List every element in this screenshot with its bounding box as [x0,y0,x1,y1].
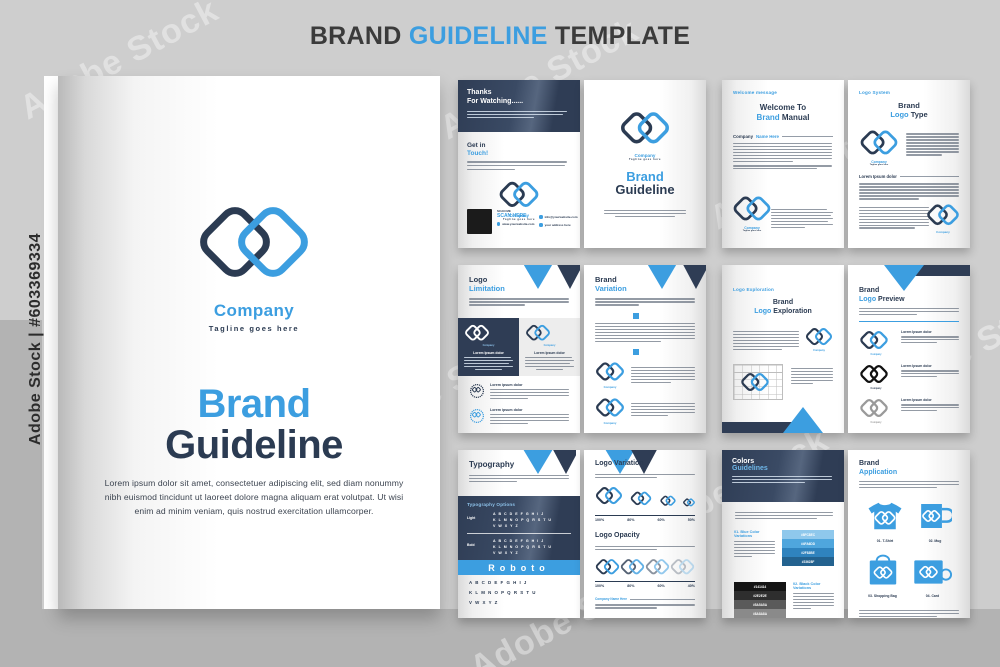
welcome-sub-blue: Name Here [756,134,779,139]
exploration-grid-lines [791,368,833,386]
exploration-title-blue: Logo [754,308,771,315]
contact-bullet-icon [539,223,542,226]
preview-body-lines [859,308,959,315]
color-swatch: #23628F [782,557,834,566]
logotype-title-blue: Logo [890,110,908,119]
typography-title: Typography [469,460,569,470]
preview-item-lines [901,336,959,343]
exploration-logo-group: Company [805,327,833,352]
application-body-lines [859,481,959,488]
company-logo-icon [645,558,670,578]
logotype-logo-group: Company Tagline goes here [859,129,899,166]
cover-logo-group: Company Tagline goes here [195,202,313,333]
welcome-kicker: Welcome message [733,90,833,95]
exploration-company: Company [805,349,833,352]
variation-square-marker-icon [633,313,639,319]
logotype-sub: Lorem Ipsum dolor [859,174,897,179]
alphabet-row: K L M N O P Q R S T U [469,590,569,595]
variation-title-line1: Brand [595,275,695,284]
alphabet-row: K L M N O P Q R S T U [493,545,571,549]
card-mockup: 04. Card [913,557,953,598]
page-welcome[interactable]: Welcome message Welcome To Brand Manual … [722,80,844,248]
preview-divider [859,321,959,322]
tshirt-icon [866,500,904,532]
cover-thumb-tagline: Tagline goes here [619,158,671,161]
variation-company-2: Company [595,421,625,425]
logotype-title-line1: Brand [859,101,959,110]
logo-variation-lines [595,474,695,478]
preview-item-lines [901,404,959,411]
preview-item-label: Lorem Ipsum dolor [901,330,959,334]
exploration-kicker: Logo Exploration [733,287,833,292]
limitation-body-lines [469,298,569,305]
color-swatch: #8FC8EC [782,530,834,539]
logo-no-icon [469,383,485,399]
qr-cta: SCAN HERE [497,213,534,219]
application-footer-lines [859,610,959,617]
company-logo-icon [859,398,893,421]
colors-header-band: Colors Guidelines [722,450,844,502]
welcome-title-line1: Welcome To [733,103,833,113]
spread-welcome-logotype[interactable]: Welcome message Welcome To Brand Manual … [722,80,970,248]
welcome-tagline: Tagline goes here [732,230,772,232]
company-logo-icon [859,364,893,387]
limitation-box-dark: Company Lorem Ipsum dolor [458,318,519,376]
colors-intro-lines [735,512,833,521]
exploration-title-line1: Brand [733,299,833,308]
logo-variation-title: Logo Variation [595,460,695,469]
color-swatch: #141414 [734,582,786,591]
limitation-item-lines [490,389,569,399]
application-title-line1: Brand [859,460,959,469]
spread-colors-application[interactable]: Colors Guidelines 01. Blue Color Variati… [722,450,970,618]
welcome-body-lines [733,143,833,169]
bottom-accent-group [722,407,844,433]
preview-item-label: Lorem Ipsum dolor [901,364,959,368]
qr-code-icon[interactable] [467,209,492,234]
typography-specimen-panel: Typography Options Light A B C D E F G H… [458,496,580,560]
preview-item: Company Lorem Ipsum dolor [859,330,959,356]
colors-header-lines [732,476,834,483]
color-swatch: #8A8A8A [734,609,786,618]
welcome-sub-dark: Company [733,134,753,139]
company-logo-icon [595,361,625,385]
variation-title-line2: Variation [595,284,695,293]
contact-value: www.yourwebsite.com [502,222,534,226]
thanks-contact-lines [467,161,571,170]
limitation-box-company: Company [464,344,513,347]
cover-spine [44,76,58,609]
logotype-body-lines [906,133,959,157]
preview-title-line1: Brand [859,287,959,296]
company-logo-icon [740,372,770,395]
shopping-bag-icon [866,553,900,587]
tshirt-mockup: 01. T-Shirt [866,500,904,543]
typography-panel-divider [467,533,571,534]
alphabet-row: A B C D E F G H I J [493,512,571,516]
page-cover-thumb[interactable]: Company Tagline goes here Brand Guidelin… [584,80,706,248]
mug-mockup: 02. Mug [918,500,952,543]
logo-variation-footer-kicker: Company Name Here [595,597,627,601]
preview-item: Company Lorem Ipsum dolor [859,398,959,424]
variation-logo-group: Company [595,361,625,389]
limitation-item-label: Lorem ipsum dolor [490,383,569,387]
company-logo-icon [595,486,623,508]
application-title-line2: Application [859,469,959,476]
variation-lines-2 [595,323,695,342]
company-logo-icon [620,558,645,578]
colors-section-1-title: 01. Blue Color Variations [734,530,775,538]
company-logo-icon [195,202,313,294]
colors-title-line2: Guidelines [732,465,834,472]
company-logo-icon [926,203,960,230]
logo-opacity-row [595,558,695,578]
colors-title-line1: Colors [732,458,834,465]
preview-company: Company [859,421,893,424]
preview-item-label: Lorem Ipsum dolor [901,398,959,402]
logo-variation-footer-lines [595,604,695,608]
logo-variation-row [595,486,695,513]
alphabet-row: A B C D E F G H I J [493,539,571,543]
company-logo-icon [630,491,652,508]
page-title-accent: GUIDELINE [409,22,548,50]
logotype-title-dark: Type [909,110,928,119]
exploration-body-lines [733,331,799,352]
limitation-box-light: Company Lorem Ipsum dolor [519,318,580,376]
color-swatch: #2F83BE [782,548,834,557]
colors-section-2-title: 02. Black Color Variations [793,582,834,590]
thanks-body-lines [467,111,571,118]
variation-pct-label: 100% [595,518,604,522]
typography-panel-kicker: Typography Options [467,502,571,507]
mug-icon [918,500,952,532]
limitation-box-caption: Lorem Ipsum dolor [464,351,513,355]
mockup-label: 03. Shopping Bag [866,594,900,598]
page-title-part1: BRAND [310,22,409,50]
thanks-title-line2: For Watching...... [467,98,523,105]
limitation-list-item: Lorem ipsum dolor [469,383,569,401]
colors-section-1-lines [734,541,775,557]
typography-body-lines [469,475,569,482]
alphabet-row: V W X Y Z [493,524,571,528]
page-title: BRAND GUIDELINE TEMPLATE [0,22,1000,51]
company-logo-icon [464,324,513,344]
limitation-box-caption-2: Lorem Ipsum dolor [525,351,574,355]
contact-value: your address here [545,223,571,227]
limitation-title-line2: Limitation [469,284,569,293]
shopping-bag-mockup: 03. Shopping Bag [866,553,900,598]
variation-pct-label: 80% [627,518,634,522]
spread-exploration-preview[interactable]: Logo Exploration Brand Logo Exploration [722,265,970,433]
blue-swatch-stack: #8FC8EC #4FA6DD #2F83BE #23628F [782,530,834,566]
logotype-rule [900,176,959,177]
contact-bullet-icon [539,215,542,218]
cover-page: Company Tagline goes here Brand Guidelin… [58,76,440,609]
preview-item: Company Lorem Ipsum dolor [859,364,959,390]
page-logo-limitation[interactable]: Logo Limitation Company [458,265,580,433]
cover-company-name: Company [195,301,313,321]
company-logo-icon [683,498,695,508]
colors-section-2-lines [793,593,834,609]
contact-bullet-icon [497,222,500,225]
page-thanks[interactable]: Thanks For Watching...... Get in Touch! [458,80,580,248]
mockup-label: 04. Card [913,594,953,598]
typography-weight-light: Light [467,512,493,528]
logo-opacity-title: Logo Opacity [595,532,695,541]
opacity-pct-label: 40% [688,584,695,588]
cover-thumb-title: Brand Guideline [584,170,706,197]
spread-thanks-cover[interactable]: Thanks For Watching...... Get in Touch! [458,80,706,248]
logo-variation-rule [595,515,695,516]
page-typography[interactable]: Typography Typography Options Light A B … [458,450,580,618]
opacity-pct-label: 80% [627,584,634,588]
preview-title-dark: Preview [876,296,904,303]
company-logo-icon [595,397,625,421]
variation-square-marker-icon [633,349,639,355]
welcome-title-dark: Manual [780,113,810,122]
color-swatch: #4FA6DD [782,539,834,548]
color-swatch: #2E2E2E [734,591,786,600]
get-in-touch-kicker-line1: Get in [467,142,571,150]
spread-typography-logovariation[interactable]: Typography Typography Options Light A B … [458,450,706,618]
page-brand-variation[interactable]: Brand Variation [584,265,706,433]
exploration-title-dark: Exploration [771,308,811,315]
limitation-box-lines [464,357,513,370]
cover-thumb-logo-group: Company Tagline goes here [619,110,671,161]
page-logotype[interactable]: Logo System Brand Logo Type [848,80,970,248]
thanks-title-line1: Thanks [467,89,492,96]
variation-lines-3 [631,365,695,385]
page-colors[interactable]: Colors Guidelines 01. Blue Color Variati… [722,450,844,618]
footer-rule [630,599,695,600]
limitation-box-lines-2 [525,357,574,370]
company-logo-icon [859,330,893,353]
cover-title-line2: Guideline [92,424,416,466]
cover-thumb-body-lines [604,210,686,219]
company-logo-icon [660,495,676,508]
spread-limitation-variation[interactable]: Logo Limitation Company [458,265,706,433]
logo-grid-construction [733,364,783,400]
page-spread-grid: Thanks For Watching...... Get in Touch! [458,80,970,609]
alphabet-row: V W X Y Z [469,600,569,605]
company-logo-icon [525,324,574,344]
alphabet-row: K L M N O P Q R S T U [493,518,571,522]
preview-title-blue: Logo [859,296,876,303]
welcome-rule [782,136,833,137]
limitation-title-line1: Logo [469,275,569,284]
logotype-lines-3 [859,207,929,229]
variation-pct-label: 60% [658,518,665,522]
logotype-company-name-2: Company [926,230,960,234]
company-logo-icon [619,110,671,151]
opacity-pct-label: 100% [595,584,604,588]
welcome-title-blue: Brand [757,113,780,122]
limitation-list-item: Lorem ipsum dolor [469,408,569,426]
logotype-logo-group-2: Company [926,203,960,234]
page-logo-exploration[interactable]: Logo Exploration Brand Logo Exploration [722,265,844,433]
mockup-label: 02. Mug [918,539,952,543]
logotype-kicker: Logo System [859,90,959,95]
mockup-label: 01. T-Shirt [866,539,904,543]
preview-item-lines [901,370,959,377]
cover-tagline: Tagline goes here [195,324,313,333]
company-logo-icon [859,129,899,160]
logo-opacity-lines [595,546,695,550]
logo-no-icon [469,408,485,424]
welcome-side-lines [771,209,833,230]
get-in-touch-kicker-line2: Touch! [467,150,571,157]
variation-lines-1 [595,298,695,305]
limitation-box-company-2: Company [525,344,574,347]
company-logo-icon [670,558,695,578]
stock-attribution-label: Adobe Stock | #603369334 [27,219,45,459]
contact-value: info@yourwebsite.com [545,215,578,219]
logo-opacity-rule [595,581,695,582]
cover-book-mockup: Company Tagline goes here Brand Guidelin… [44,76,440,609]
page-brand-application[interactable]: Brand Application [848,450,970,618]
page-logo-variation[interactable]: Logo Variation [584,450,706,618]
font-name-bar: Roboto [458,560,580,575]
company-logo-icon [805,327,833,349]
welcome-logo-group: Company Tagline goes here [732,195,772,232]
company-logo-icon [732,195,772,226]
black-swatch-stack: #141414 #2E2E2E #5A5A5A #8A8A8A [734,582,786,618]
limitation-item-lines [490,414,569,424]
cover-title: Brand Guideline [92,384,416,466]
font-alphabet-block: A B C D E F G H I J K L M N O P Q R S T … [469,580,569,605]
cover-body-text: Lorem ipsum dolor sit amet, consectetuer… [102,476,406,519]
alphabet-row: A B C D E F G H I J [469,580,569,585]
triangle-blue-icon [783,407,823,433]
variation-logo-group-2: Company [595,397,625,425]
page-logo-preview[interactable]: Brand Logo Preview [848,265,970,433]
preview-company: Company [859,353,893,356]
alphabet-row: V W X Y Z [493,551,571,555]
company-logo-icon [595,558,620,578]
color-swatch: #5A5A5A [734,600,786,609]
cover-title-line1: Brand [92,384,416,424]
cover-thumb-title-line2: Guideline [584,183,706,197]
card-icon [913,557,953,587]
opacity-pct-label: 60% [658,584,665,588]
variation-lines-4 [631,401,695,418]
preview-company: Company [859,387,893,390]
limitation-item-label: Lorem ipsum dolor [490,408,569,412]
variation-company: Company [595,385,625,389]
logotype-tagline: Tagline goes here [859,164,899,166]
variation-pct-label: 50% [688,518,695,522]
typography-weight-bold: Bold [467,539,493,555]
page-title-part2: TEMPLATE [548,22,691,50]
logotype-lines-2 [859,183,959,199]
